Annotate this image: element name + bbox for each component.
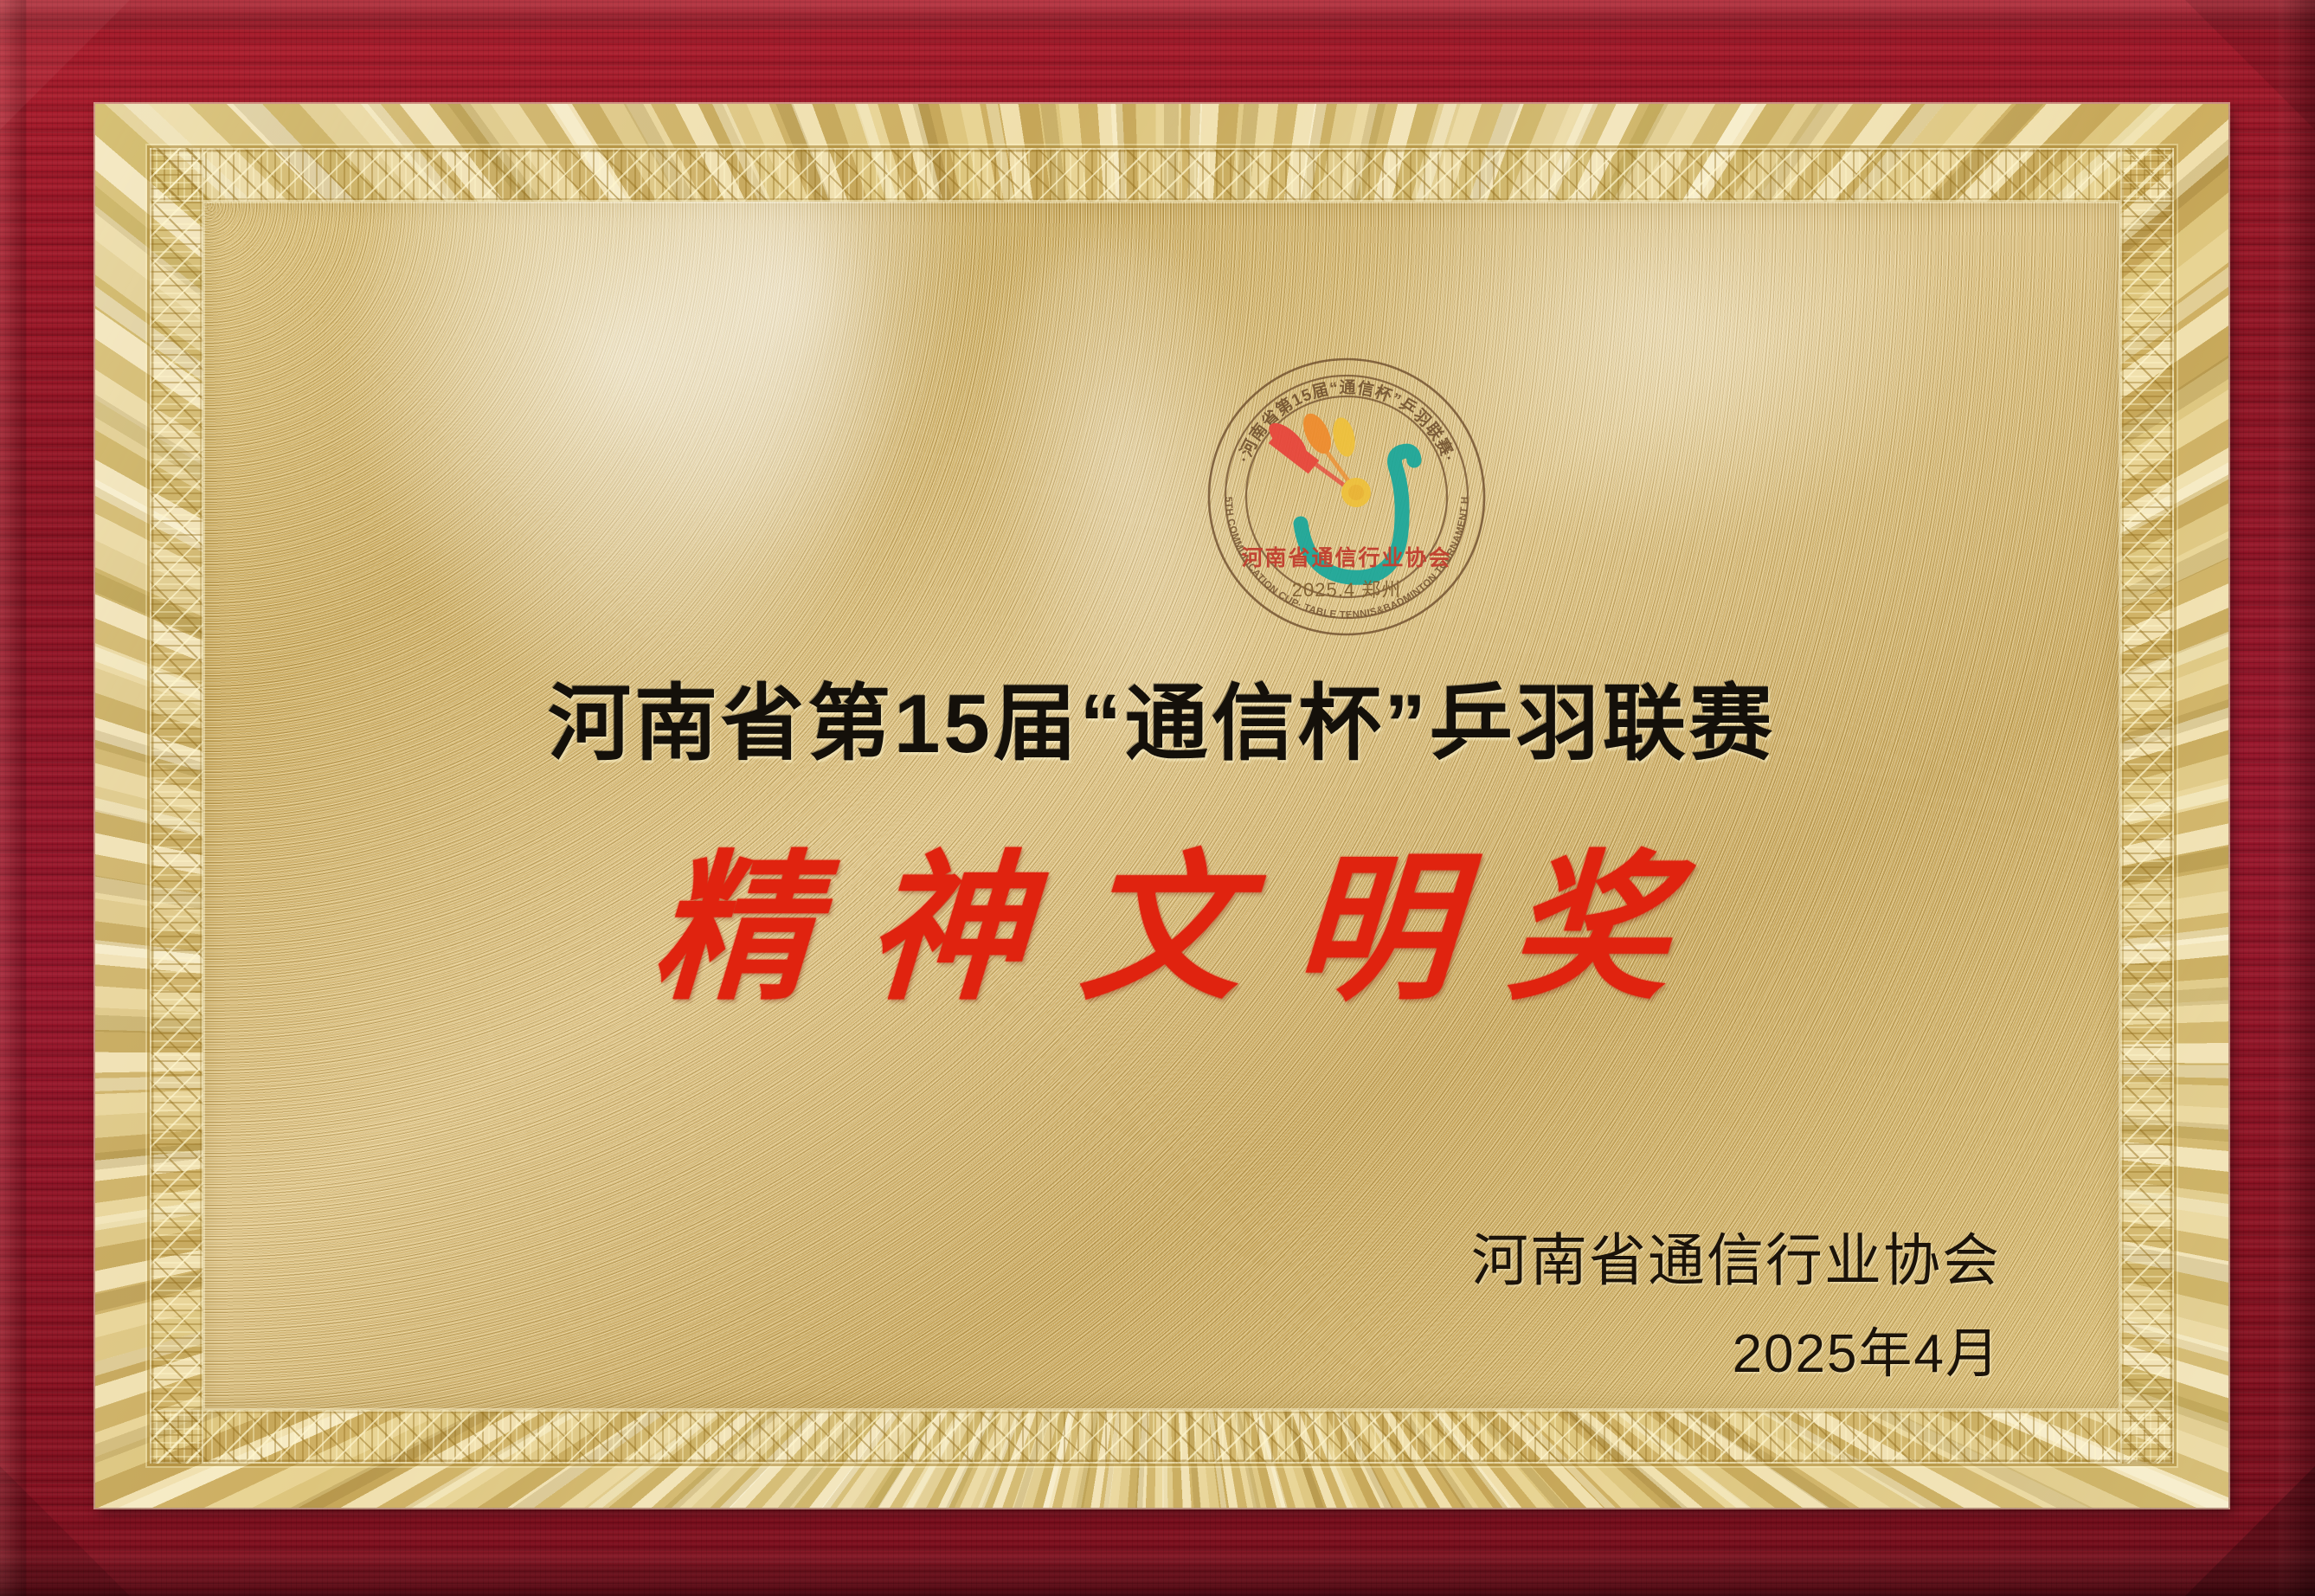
engraved-ornament-border: ·河南省第15届“通信杯”乒羽联赛· THE 15TH COMMUNICATIO… — [147, 145, 2177, 1466]
frame-bevel-right — [2279, 0, 2315, 1596]
frame-bevel-top — [0, 0, 2315, 29]
gold-plate: ·河南省第15届“通信杯”乒羽联赛· THE 15TH COMMUNICATIO… — [95, 104, 2228, 1508]
inner-gold-field: ·河南省第15届“通信杯”乒羽联赛· THE 15TH COMMUNICATIO… — [203, 202, 2120, 1410]
issuing-organization: 河南省通信行业协会 — [1471, 1214, 2001, 1297]
ornament-band-bottom — [150, 1410, 2174, 1464]
award-name: 精神文明奖 — [203, 799, 2120, 1031]
tournament-logo-icon: ·河南省第15届“通信杯”乒羽联赛· THE 15TH COMMUNICATIO… — [1204, 354, 1489, 640]
ornament-band-top — [150, 148, 2174, 202]
page-title: 河南省第15届“通信杯”乒羽联赛 — [203, 656, 2120, 776]
logo-org-text: 河南省通信行业协会 — [1241, 546, 1451, 570]
issue-date: 2025年4月 — [1471, 1310, 2001, 1387]
ornament-band-right — [2120, 148, 2174, 1464]
signature-block: 河南省通信行业协会 2025年4月 — [1471, 1214, 2001, 1387]
frame-bevel-left — [0, 0, 26, 1596]
frame-bevel-bottom — [0, 1551, 2315, 1596]
award-plaque: ·河南省第15届“通信杯”乒羽联赛· THE 15TH COMMUNICATIO… — [0, 0, 2315, 1596]
plaque-content: ·河南省第15届“通信杯”乒羽联赛· THE 15TH COMMUNICATIO… — [203, 202, 2120, 1410]
ornament-band-left — [150, 148, 203, 1464]
logo-date-city-text: 2025.4 郑州 — [1292, 579, 1401, 601]
